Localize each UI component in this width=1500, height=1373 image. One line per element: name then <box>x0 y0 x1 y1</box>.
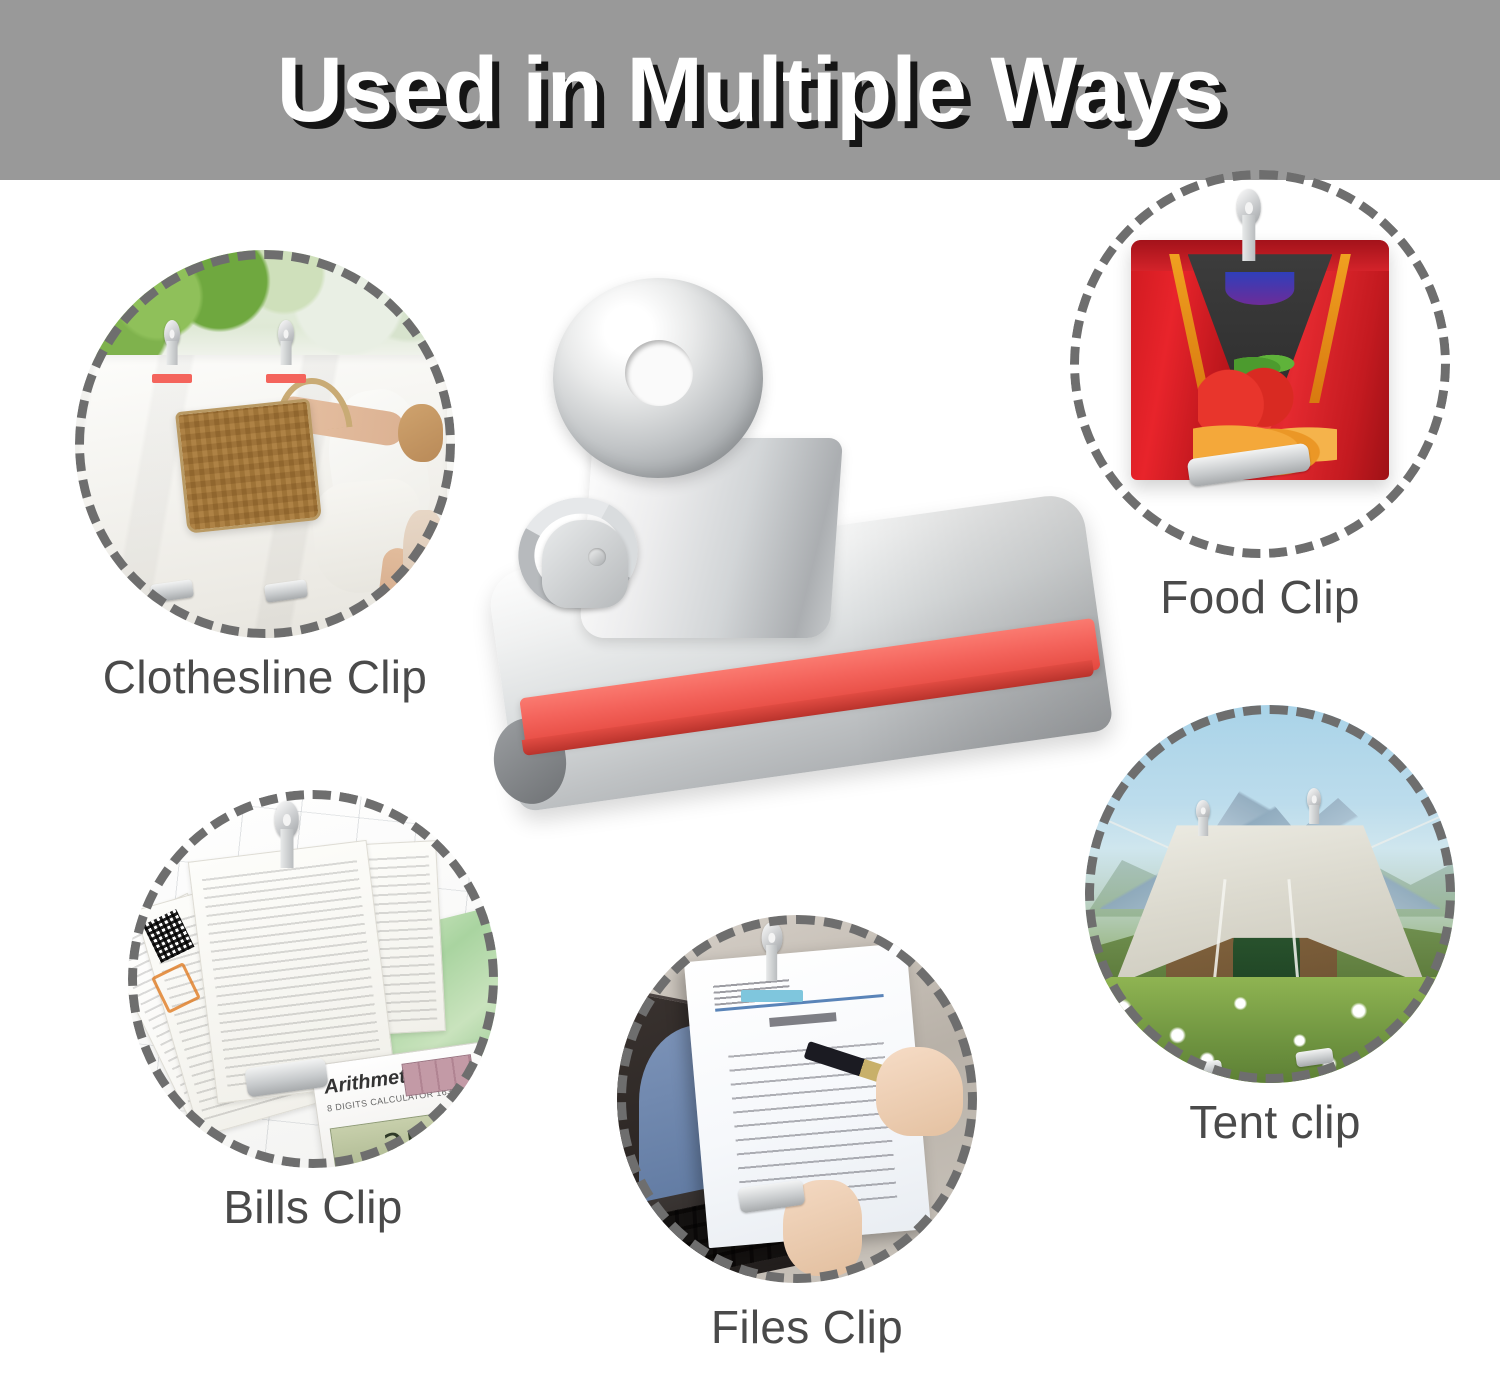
clip-on-document-icon <box>739 922 804 1010</box>
use-case-label-tent: Tent clip <box>1035 1095 1500 1149</box>
use-case-label-bills: Bills Clip <box>68 1180 558 1234</box>
mini-clip-neck-icon <box>1310 805 1320 824</box>
flower-meadow <box>1085 977 1455 1083</box>
header-banner: Used in Multiple Ways <box>0 0 1500 180</box>
clip-spring-inner-arm <box>542 520 628 608</box>
clip-sealing-bag-icon <box>1188 189 1310 298</box>
use-case-clothesline: Clothesline Clip <box>75 250 465 710</box>
clip-holding-bills-icon <box>246 801 327 899</box>
bills-circle-image: Arithmetic 8 DIGITS CALCULATOR 1630 2550 <box>128 790 498 1168</box>
clip-on-tarp-right-icon <box>1296 788 1333 845</box>
woman-head <box>398 404 443 462</box>
mini-clip-neck-icon <box>766 945 778 980</box>
mini-clip-neck-icon <box>281 829 294 868</box>
infographic-page: Used in Multiple Ways <box>0 0 1500 1373</box>
use-case-tent: Tent clip <box>1085 705 1465 1155</box>
mini-clip-neck-icon <box>166 341 177 365</box>
clip-hang-hole-icon <box>625 340 693 406</box>
calculator-display-value: 2550 <box>382 1116 477 1168</box>
document-title-line <box>770 1012 837 1026</box>
calculator-solar-panel <box>402 1054 476 1096</box>
calculator-screen: 2550 <box>330 1107 486 1168</box>
mini-clip-red-strip-icon <box>266 374 306 383</box>
use-case-bills: Arithmetic 8 DIGITS CALCULATOR 1630 2550… <box>128 790 518 1260</box>
mini-clip-neck-icon <box>1242 215 1255 261</box>
mini-clip-neck-icon <box>1199 817 1209 836</box>
mini-clip-blue-strip-icon <box>741 990 803 1001</box>
use-case-files: Files Clip <box>617 915 997 1365</box>
mini-clip-red-strip-icon <box>152 374 192 383</box>
mini-clip-neck-icon <box>280 341 291 365</box>
clip-on-line-right-icon <box>265 320 307 390</box>
page-title: Used in Multiple Ways <box>0 0 1500 180</box>
tent-circle-image <box>1085 705 1455 1083</box>
clip-pivot-rivet-icon <box>588 548 606 566</box>
main-product-clip <box>490 270 1130 910</box>
clothesline-circle-image <box>75 250 455 638</box>
clip-on-line-left-icon <box>151 320 193 390</box>
use-case-label-clothesline: Clothesline Clip <box>35 650 495 704</box>
use-case-label-files: Files Clip <box>562 1300 1052 1354</box>
clip-on-tarp-left-icon <box>1185 800 1222 857</box>
files-circle-image <box>617 915 977 1283</box>
child-figure <box>403 510 445 601</box>
hand-with-pen <box>876 1047 962 1135</box>
wicker-basket <box>175 398 322 534</box>
